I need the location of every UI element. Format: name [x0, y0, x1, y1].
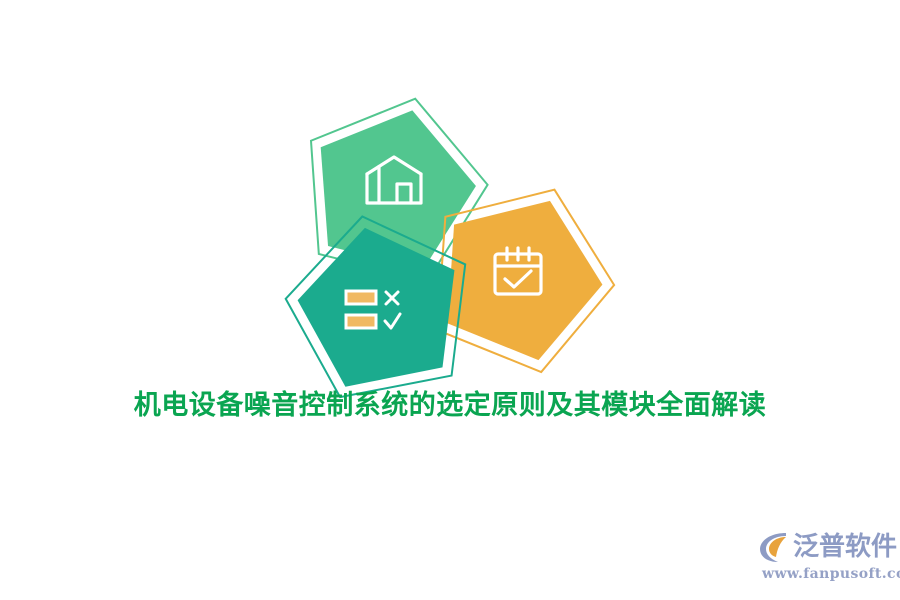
- fanpu-crescent-logo-icon: [756, 530, 790, 564]
- slide-canvas: 机电设备噪音控制系统的选定原则及其模块全面解读 泛普软件 www.fanpuso…: [0, 0, 900, 600]
- pentagon-fill: [288, 221, 458, 398]
- pentagon-cluster-graphic: [290, 95, 590, 395]
- brand-watermark: 泛普软件 www.fanpusoft.com: [756, 530, 892, 586]
- brand-name: 泛普软件: [793, 534, 897, 560]
- brand-row: 泛普软件: [756, 530, 897, 564]
- logo-arc: [769, 537, 786, 557]
- brand-url: www.fanpusoft.com: [762, 566, 900, 582]
- page-title: 机电设备噪音控制系统的选定原则及其模块全面解读: [0, 383, 900, 422]
